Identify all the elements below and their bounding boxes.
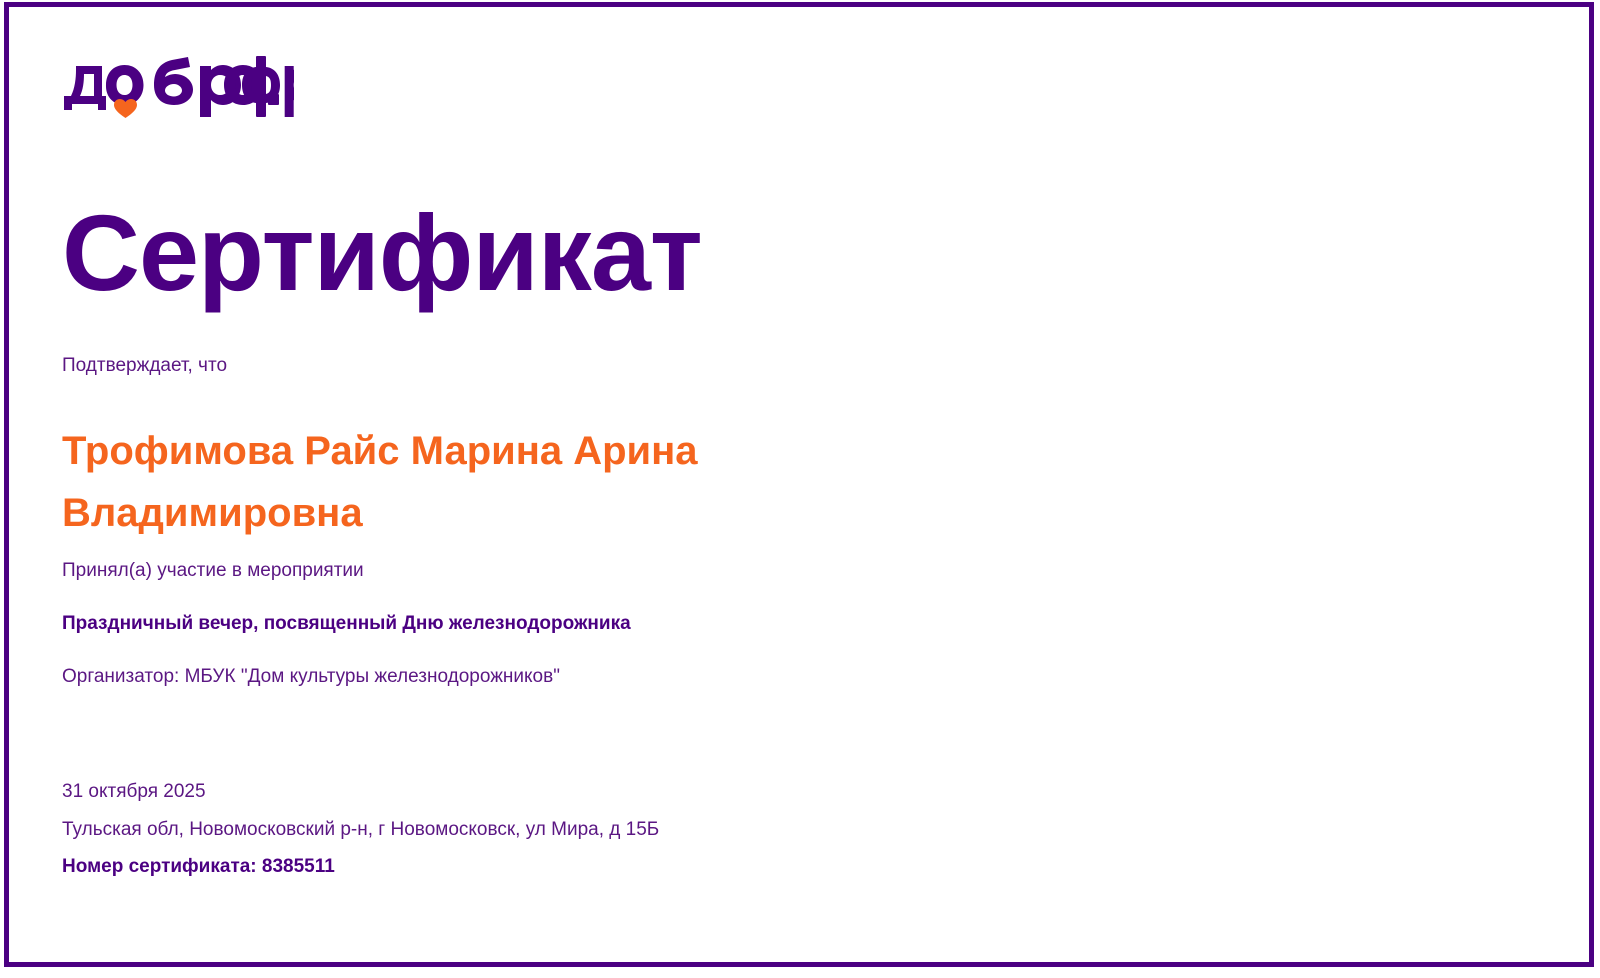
issue-date: 31 октября 2025 xyxy=(62,781,206,803)
dobro-rf-logo xyxy=(62,56,294,118)
certificate-page: Сертификат Подтверждает, что Трофимова Р… xyxy=(0,0,1600,978)
recipient-name: Трофимова Райс Марина Арина Владимировна xyxy=(62,420,762,544)
certificate-title: Сертификат xyxy=(62,196,702,309)
dobro-rf-logo-svg xyxy=(62,56,294,118)
issue-location: Тульская обл, Новомосковский р-н, г Ново… xyxy=(62,819,659,841)
event-title: Праздничный вечер, посвященный Дню желез… xyxy=(62,613,631,635)
certificate-number: Номер сертификата: 8385511 xyxy=(62,856,335,878)
confirms-label: Подтверждает, что xyxy=(62,355,227,377)
participation-label: Принял(а) участие в мероприятии xyxy=(62,560,364,582)
organizer-line: Организатор: МБУК "Дом культуры железнод… xyxy=(62,666,560,688)
